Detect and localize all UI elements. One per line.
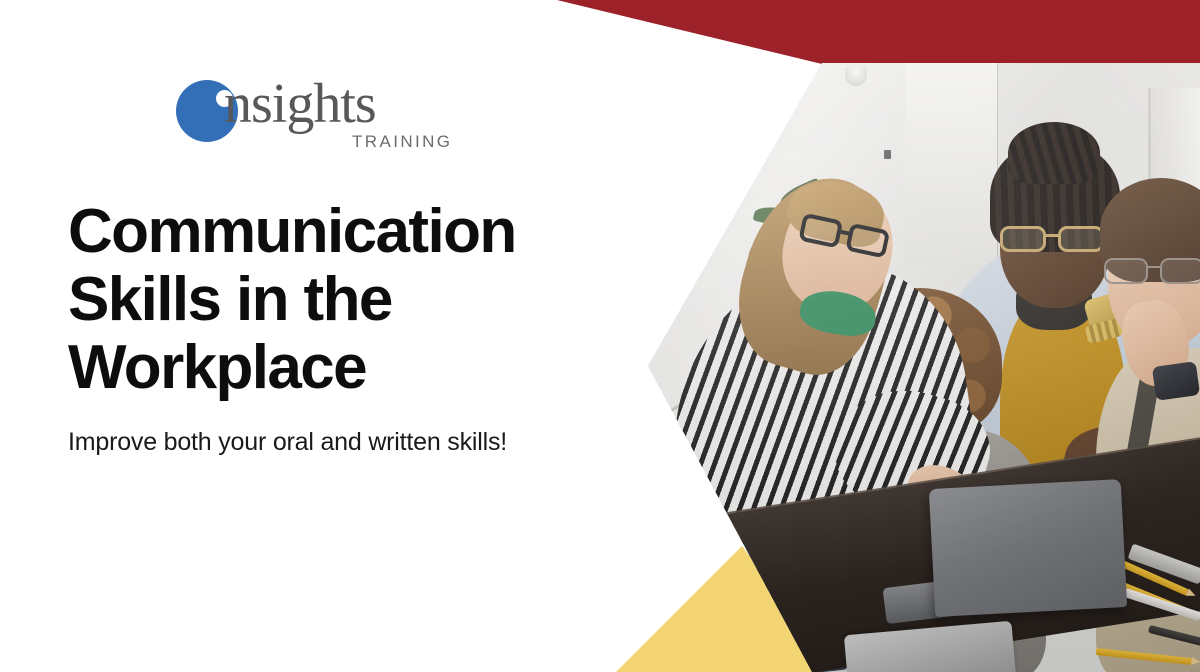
pencil-tip (1191, 657, 1200, 666)
text-column: nsights TRAINING Communication Skills in… (0, 0, 660, 672)
man-center-glasses (1000, 226, 1106, 254)
glasses-bridge (1046, 234, 1058, 237)
lens-right (1160, 258, 1200, 284)
title-line-1: Communication (68, 198, 668, 266)
black-watch (1152, 361, 1200, 401)
wall-panel (905, 55, 997, 265)
event-banner: nsights TRAINING Communication Skills in… (0, 0, 1200, 672)
logo-tagline: TRAINING (352, 132, 452, 152)
logo-wordmark: nsights (224, 76, 376, 132)
glasses-bridge (1148, 266, 1160, 268)
title-line-2: Skills in the (68, 266, 668, 334)
lens-left (1000, 226, 1046, 252)
man-right-glasses (1104, 258, 1200, 286)
insights-training-logo: nsights TRAINING (176, 74, 436, 162)
subtitle: Improve both your oral and written skill… (68, 428, 507, 457)
page-title: Communication Skills in the Workplace (68, 198, 668, 402)
title-line-3: Workplace (68, 334, 668, 402)
wall-switch (884, 150, 891, 159)
laptop-lid (929, 479, 1127, 617)
lens-right (1058, 226, 1104, 252)
lens-left (1104, 258, 1148, 284)
man-locs-top (1008, 122, 1100, 184)
